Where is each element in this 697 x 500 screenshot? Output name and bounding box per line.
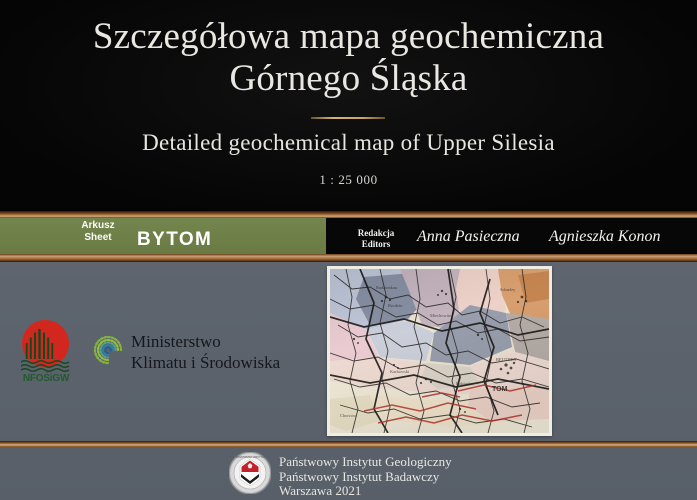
editor-name-2: Agnieszka Konon xyxy=(549,228,661,246)
nfosigw-logo: NFOŚiGW xyxy=(16,320,76,388)
map-thumbnail-svg: Radzionkau Rosdzin Miechowitz Scharley B… xyxy=(330,269,549,433)
ministry-name-line2: Klimatu i Środowiska xyxy=(131,352,280,373)
map-thumbnail-frame: Radzionkau Rosdzin Miechowitz Scharley B… xyxy=(327,266,552,436)
pig-seal-icon: PAŃSTWOWY INSTYTUT xyxy=(229,452,271,494)
title-polish-line1: Szczegółowa mapa geochemiczna xyxy=(93,16,604,57)
sheet-label-polish: Arkusz xyxy=(81,220,114,231)
svg-text:PAŃSTWOWY INSTYTUT: PAŃSTWOWY INSTYTUT xyxy=(236,456,266,459)
title-panel: Szczegółowa mapa geochemiczna Górnego Śl… xyxy=(0,0,697,215)
map-thumbnail-image: Radzionkau Rosdzin Miechowitz Scharley B… xyxy=(330,269,549,433)
nfosigw-tree-icon xyxy=(25,329,54,359)
nfosigw-water-icon xyxy=(21,360,70,372)
ministry-name: Ministerstwo Klimatu i Środowiska xyxy=(131,331,280,373)
ministry-spiral-icon xyxy=(90,332,126,368)
title-divider-rule xyxy=(311,117,385,119)
publisher-line3: Warszawa 2021 xyxy=(279,484,452,499)
footer-divider-rule xyxy=(0,441,697,447)
sheet-label: Arkusz Sheet xyxy=(72,220,124,243)
title-polish: Szczegółowa mapa geochemiczna Górnego Śl… xyxy=(0,16,697,100)
publisher-line1: Państwowy Instytut Geologiczny xyxy=(279,455,452,470)
nfosigw-acronym: NFOŚiGW xyxy=(16,373,76,384)
publisher-footer: Państwowy Instytut Geologiczny Państwowy… xyxy=(279,455,452,499)
sheet-name: BYTOM xyxy=(137,229,212,251)
title-polish-line2: Górnego Śląska xyxy=(0,58,697,100)
sheet-label-english: Sheet xyxy=(84,232,111,243)
editors-label: Redakcja Editors xyxy=(348,228,404,249)
editors-label-polish: Redakcja xyxy=(358,228,395,238)
editors-label-english: Editors xyxy=(362,239,391,249)
band-bottom-edge xyxy=(0,254,697,262)
band-top-edge xyxy=(0,211,697,218)
publisher-line2: Państwowy Instytut Badawczy xyxy=(279,470,452,485)
title-english: Detailed geochemical map of Upper Silesi… xyxy=(0,130,697,156)
ministry-name-line1: Ministerstwo xyxy=(131,331,280,352)
map-scale: 1 : 25 000 xyxy=(0,172,697,188)
editor-name-1: Anna Pasieczna xyxy=(417,228,520,246)
map-cover: Szczegółowa mapa geochemiczna Górnego Śl… xyxy=(0,0,697,500)
